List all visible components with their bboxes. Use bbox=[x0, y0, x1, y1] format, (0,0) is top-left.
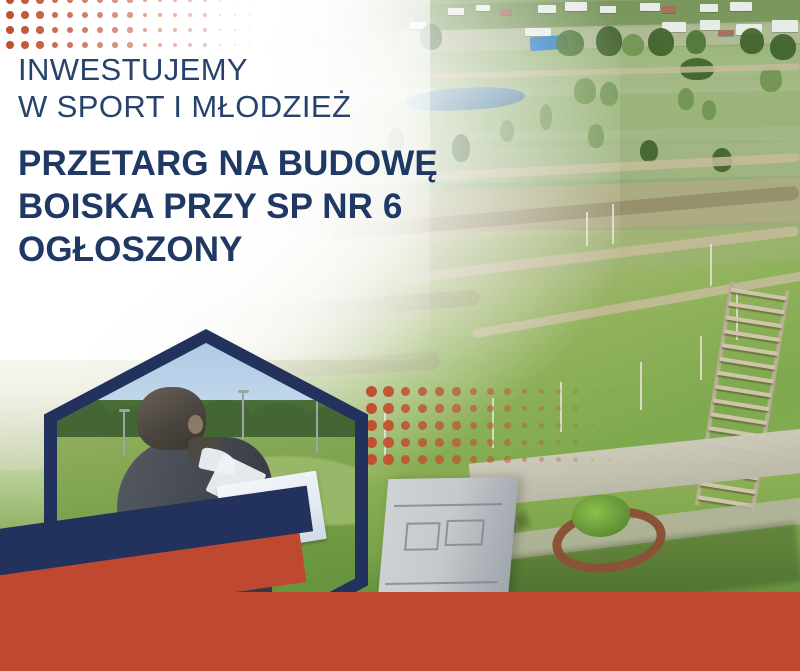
stair-step bbox=[731, 288, 787, 301]
village-building bbox=[538, 5, 556, 13]
fence-post bbox=[586, 212, 588, 246]
roof-line bbox=[394, 503, 502, 507]
village-building bbox=[700, 20, 720, 30]
village-building bbox=[525, 28, 551, 36]
stair-step bbox=[713, 398, 769, 411]
fence-post bbox=[640, 362, 642, 410]
village-building bbox=[640, 3, 660, 11]
fence-post bbox=[492, 398, 494, 448]
fence-post bbox=[700, 336, 702, 380]
headline: PRZETARG NA BUDOWĘ BOISKA PRZY SP NR 6 O… bbox=[18, 143, 578, 271]
kicker-line-1: INWESTUJEMY bbox=[18, 52, 578, 89]
roof-vent bbox=[404, 522, 441, 551]
roof-vent bbox=[444, 519, 484, 546]
headline-line-1: PRZETARG NA BUDOWĘ bbox=[18, 143, 578, 186]
tree bbox=[702, 100, 716, 120]
stair-step bbox=[717, 371, 773, 384]
stair-step bbox=[720, 357, 776, 370]
poster-root: INWESTUJEMY W SPORT I MŁODZIEŻ PRZETARG … bbox=[0, 0, 800, 671]
village-building bbox=[700, 4, 718, 12]
tree bbox=[588, 124, 604, 148]
man-ear bbox=[188, 415, 203, 434]
kicker: INWESTUJEMY W SPORT I MŁODZIEŻ bbox=[18, 52, 578, 125]
village-building bbox=[730, 2, 752, 11]
tree bbox=[770, 34, 796, 60]
village-building bbox=[662, 6, 676, 13]
village-building bbox=[448, 8, 464, 15]
tree bbox=[640, 140, 658, 162]
stair-step bbox=[715, 385, 771, 398]
tree bbox=[420, 24, 442, 50]
village-building bbox=[565, 2, 587, 11]
fence-post bbox=[560, 382, 562, 432]
tree bbox=[740, 28, 764, 54]
village-building bbox=[476, 5, 490, 11]
street-lamp bbox=[242, 390, 244, 440]
stair-step bbox=[722, 343, 778, 356]
tree bbox=[678, 88, 694, 110]
stair-step bbox=[726, 315, 782, 328]
stair-step bbox=[711, 412, 767, 425]
village-building bbox=[600, 6, 616, 13]
fence-post bbox=[710, 244, 712, 286]
roof-line bbox=[385, 581, 497, 585]
tree bbox=[596, 26, 622, 56]
street-lamp bbox=[316, 396, 318, 453]
tree bbox=[300, 30, 318, 52]
village-building bbox=[330, 37, 360, 46]
tree bbox=[686, 30, 706, 54]
fence-post bbox=[384, 412, 386, 460]
fence-post bbox=[612, 204, 614, 244]
kicker-line-2: W SPORT I MŁODZIEŻ bbox=[18, 89, 578, 126]
poster-text-block: INWESTUJEMY W SPORT I MŁODZIEŻ PRZETARG … bbox=[18, 52, 578, 271]
tree bbox=[600, 82, 618, 106]
village-building bbox=[500, 9, 512, 15]
village-building bbox=[252, 16, 270, 22]
village-building bbox=[772, 20, 798, 32]
village-building bbox=[718, 30, 734, 36]
tree bbox=[622, 34, 644, 56]
stair-step bbox=[724, 329, 780, 342]
street-lamp bbox=[123, 409, 125, 456]
headline-line-2: BOISKA PRZY SP NR 6 bbox=[18, 186, 578, 229]
headline-line-3: OGŁOSZONY bbox=[18, 229, 578, 272]
stair-step bbox=[728, 302, 784, 315]
stair-step bbox=[700, 481, 756, 494]
tree bbox=[648, 28, 674, 56]
